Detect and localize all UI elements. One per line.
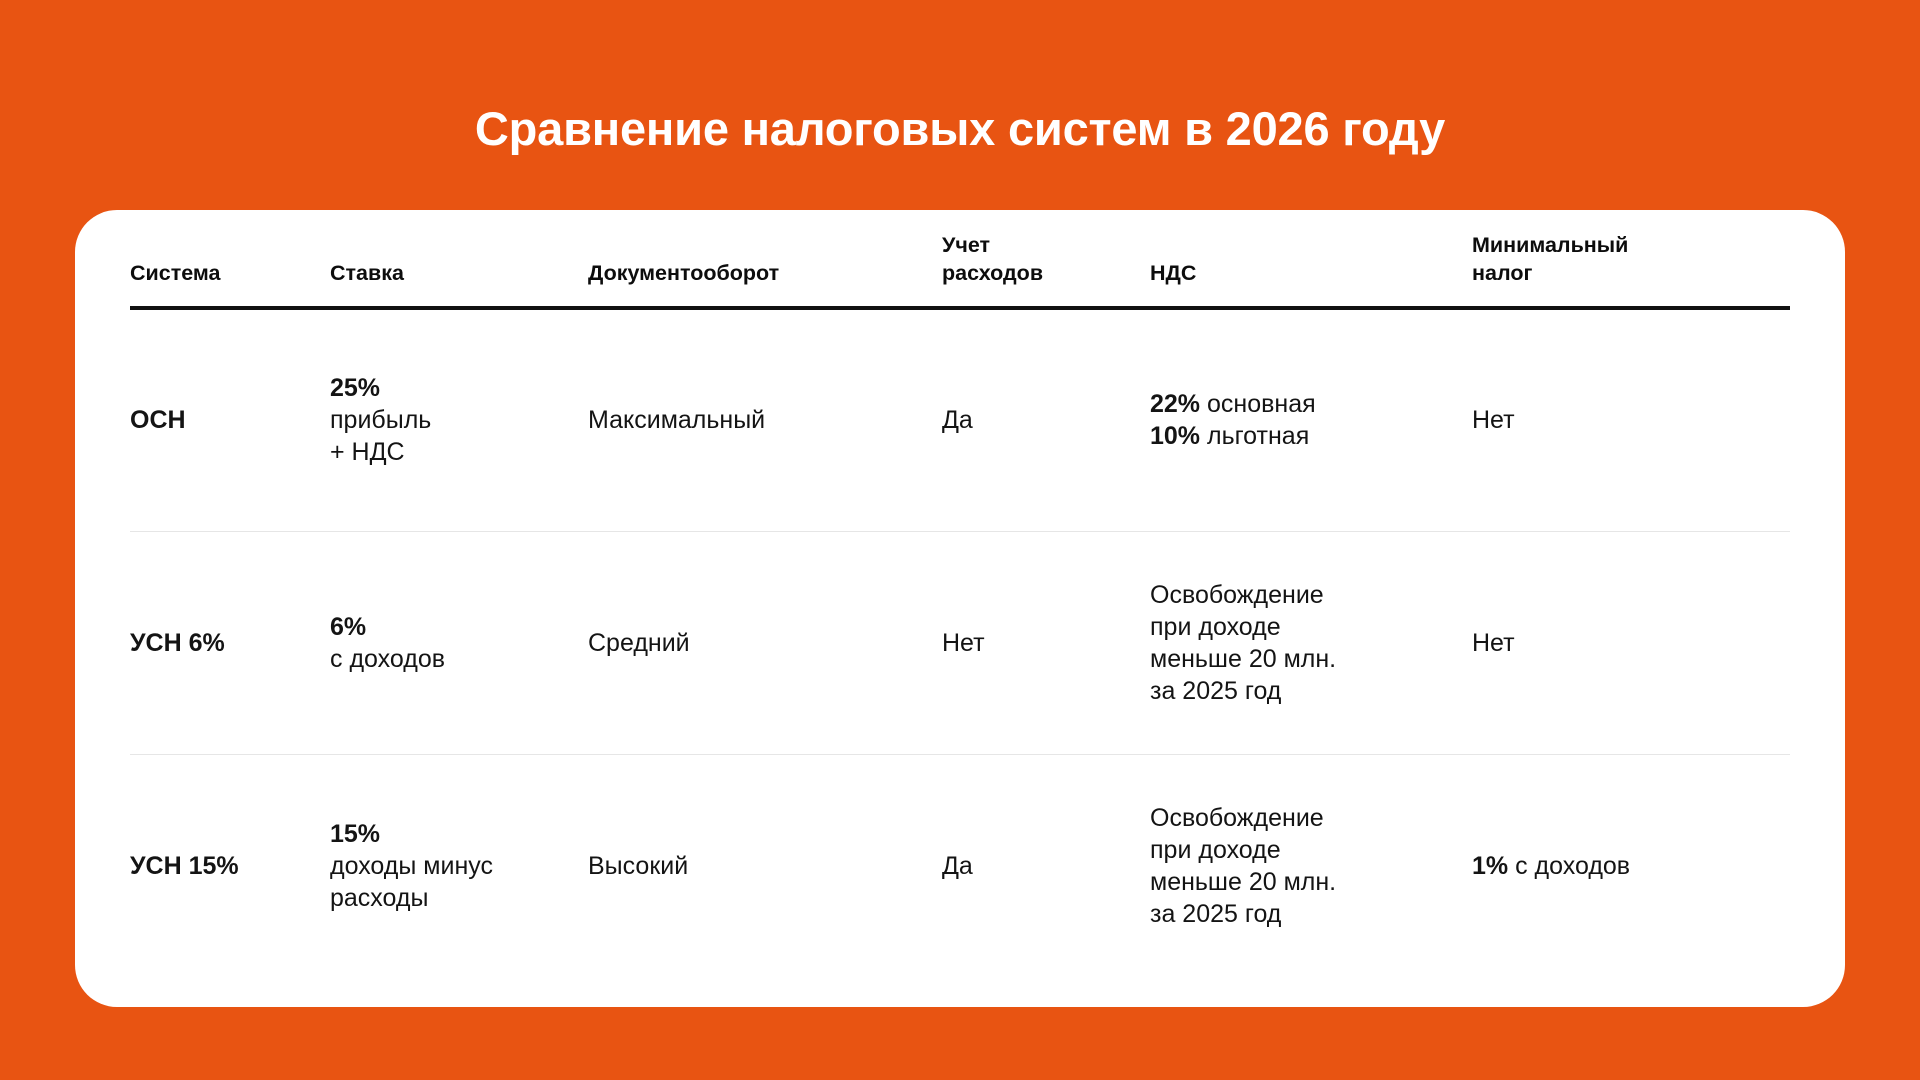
- vat-line-2: при доходе: [1150, 834, 1472, 866]
- column-header-min-tax-label-line2: налог: [1472, 261, 1532, 285]
- rate-desc-line1: доходы минус: [330, 850, 588, 882]
- vat-rate-reduced-label: льготная: [1200, 422, 1309, 450]
- cell-documents: Средний: [588, 531, 942, 754]
- expenses-value: Да: [942, 406, 973, 434]
- min-tax-line: Нет: [1472, 629, 1515, 657]
- rate-desc-line1: прибыль: [330, 404, 588, 436]
- vat-line-3: меньше 20 млн.: [1150, 643, 1472, 675]
- vat-line-1: Освобождение: [1150, 579, 1472, 611]
- column-header-rate: Ставка: [330, 210, 588, 308]
- system-name: ОСН: [130, 406, 186, 434]
- cell-vat: Освобождение при доходе меньше 20 млн. з…: [1150, 531, 1472, 754]
- expenses-value: Нет: [942, 629, 985, 657]
- documents-value: Средний: [588, 629, 690, 657]
- cell-min-tax: Нет: [1472, 531, 1790, 754]
- column-header-system: Система: [130, 210, 330, 308]
- cell-documents: Высокий: [588, 754, 942, 977]
- cell-system: УСН 15%: [130, 754, 330, 977]
- system-name: УСН 15%: [130, 852, 239, 880]
- cell-expenses: Да: [942, 308, 1150, 531]
- rate-value: 25%: [330, 372, 588, 404]
- column-header-system-label: Система: [130, 261, 220, 285]
- min-tax-text: Нет: [1472, 629, 1515, 657]
- cell-vat: 22% основная 10% льготная: [1150, 308, 1472, 531]
- vat-line-2: 10% льготная: [1150, 420, 1472, 452]
- cell-min-tax: Нет: [1472, 308, 1790, 531]
- rate-value: 6%: [330, 611, 588, 643]
- table-row: УСН 6% 6% с доходов Средний Нет Освобожд…: [130, 531, 1790, 754]
- cell-expenses: Да: [942, 754, 1150, 977]
- table-header: Система Ставка Документооборот Учет расх…: [130, 210, 1790, 308]
- column-header-documents: Документооборот: [588, 210, 942, 308]
- vat-rate-main: 22%: [1150, 390, 1200, 418]
- vat-rate-main-label: основная: [1200, 390, 1316, 418]
- cell-vat: Освобождение при доходе меньше 20 млн. з…: [1150, 754, 1472, 977]
- column-header-expenses-label-line2: расходов: [942, 261, 1043, 285]
- comparison-card: Система Ставка Документооборот Учет расх…: [75, 210, 1845, 1007]
- cell-rate: 15% доходы минус расходы: [330, 754, 588, 977]
- column-header-vat-label: НДС: [1150, 261, 1196, 285]
- rate-desc-line2: расходы: [330, 882, 588, 914]
- cell-min-tax: 1% с доходов: [1472, 754, 1790, 977]
- rate-desc-line2: + НДС: [330, 436, 588, 468]
- min-tax-text: Нет: [1472, 406, 1515, 434]
- min-tax-text: с доходов: [1508, 852, 1630, 880]
- documents-value: Высокий: [588, 852, 688, 880]
- column-header-vat: НДС: [1150, 210, 1472, 308]
- column-header-rate-label: Ставка: [330, 261, 404, 285]
- vat-line-4: за 2025 год: [1150, 898, 1472, 930]
- vat-line-2: при доходе: [1150, 611, 1472, 643]
- min-tax-line: Нет: [1472, 406, 1515, 434]
- documents-value: Максимальный: [588, 406, 765, 434]
- cell-rate: 25% прибыль + НДС: [330, 308, 588, 531]
- table-row: ОСН 25% прибыль + НДС Максимальный Да 22…: [130, 308, 1790, 531]
- expenses-value: Да: [942, 852, 973, 880]
- min-tax-value: 1%: [1472, 852, 1508, 880]
- column-header-expenses-label-line1: Учет: [942, 233, 990, 257]
- table-row: УСН 15% 15% доходы минус расходы Высокий…: [130, 754, 1790, 977]
- cell-system: УСН 6%: [130, 531, 330, 754]
- cell-system: ОСН: [130, 308, 330, 531]
- cell-rate: 6% с доходов: [330, 531, 588, 754]
- cell-expenses: Нет: [942, 531, 1150, 754]
- vat-line-4: за 2025 год: [1150, 675, 1472, 707]
- rate-desc-line1: с доходов: [330, 643, 588, 675]
- vat-line-3: меньше 20 млн.: [1150, 866, 1472, 898]
- column-header-expenses: Учет расходов: [942, 210, 1150, 308]
- system-name: УСН 6%: [130, 629, 225, 657]
- cell-documents: Максимальный: [588, 308, 942, 531]
- column-header-documents-label: Документооборот: [588, 261, 779, 285]
- vat-line-1: 22% основная: [1150, 388, 1472, 420]
- table-header-row: Система Ставка Документооборот Учет расх…: [130, 210, 1790, 308]
- tax-comparison-table: Система Ставка Документооборот Учет расх…: [130, 210, 1790, 977]
- column-header-min-tax: Минимальный налог: [1472, 210, 1790, 308]
- table-body: ОСН 25% прибыль + НДС Максимальный Да 22…: [130, 308, 1790, 977]
- column-header-min-tax-label-line1: Минимальный: [1472, 233, 1628, 257]
- vat-rate-reduced: 10%: [1150, 422, 1200, 450]
- min-tax-line: 1% с доходов: [1472, 852, 1630, 880]
- vat-line-1: Освобождение: [1150, 802, 1472, 834]
- rate-value: 15%: [330, 818, 588, 850]
- page-title: Сравнение налоговых систем в 2026 году: [0, 103, 1920, 155]
